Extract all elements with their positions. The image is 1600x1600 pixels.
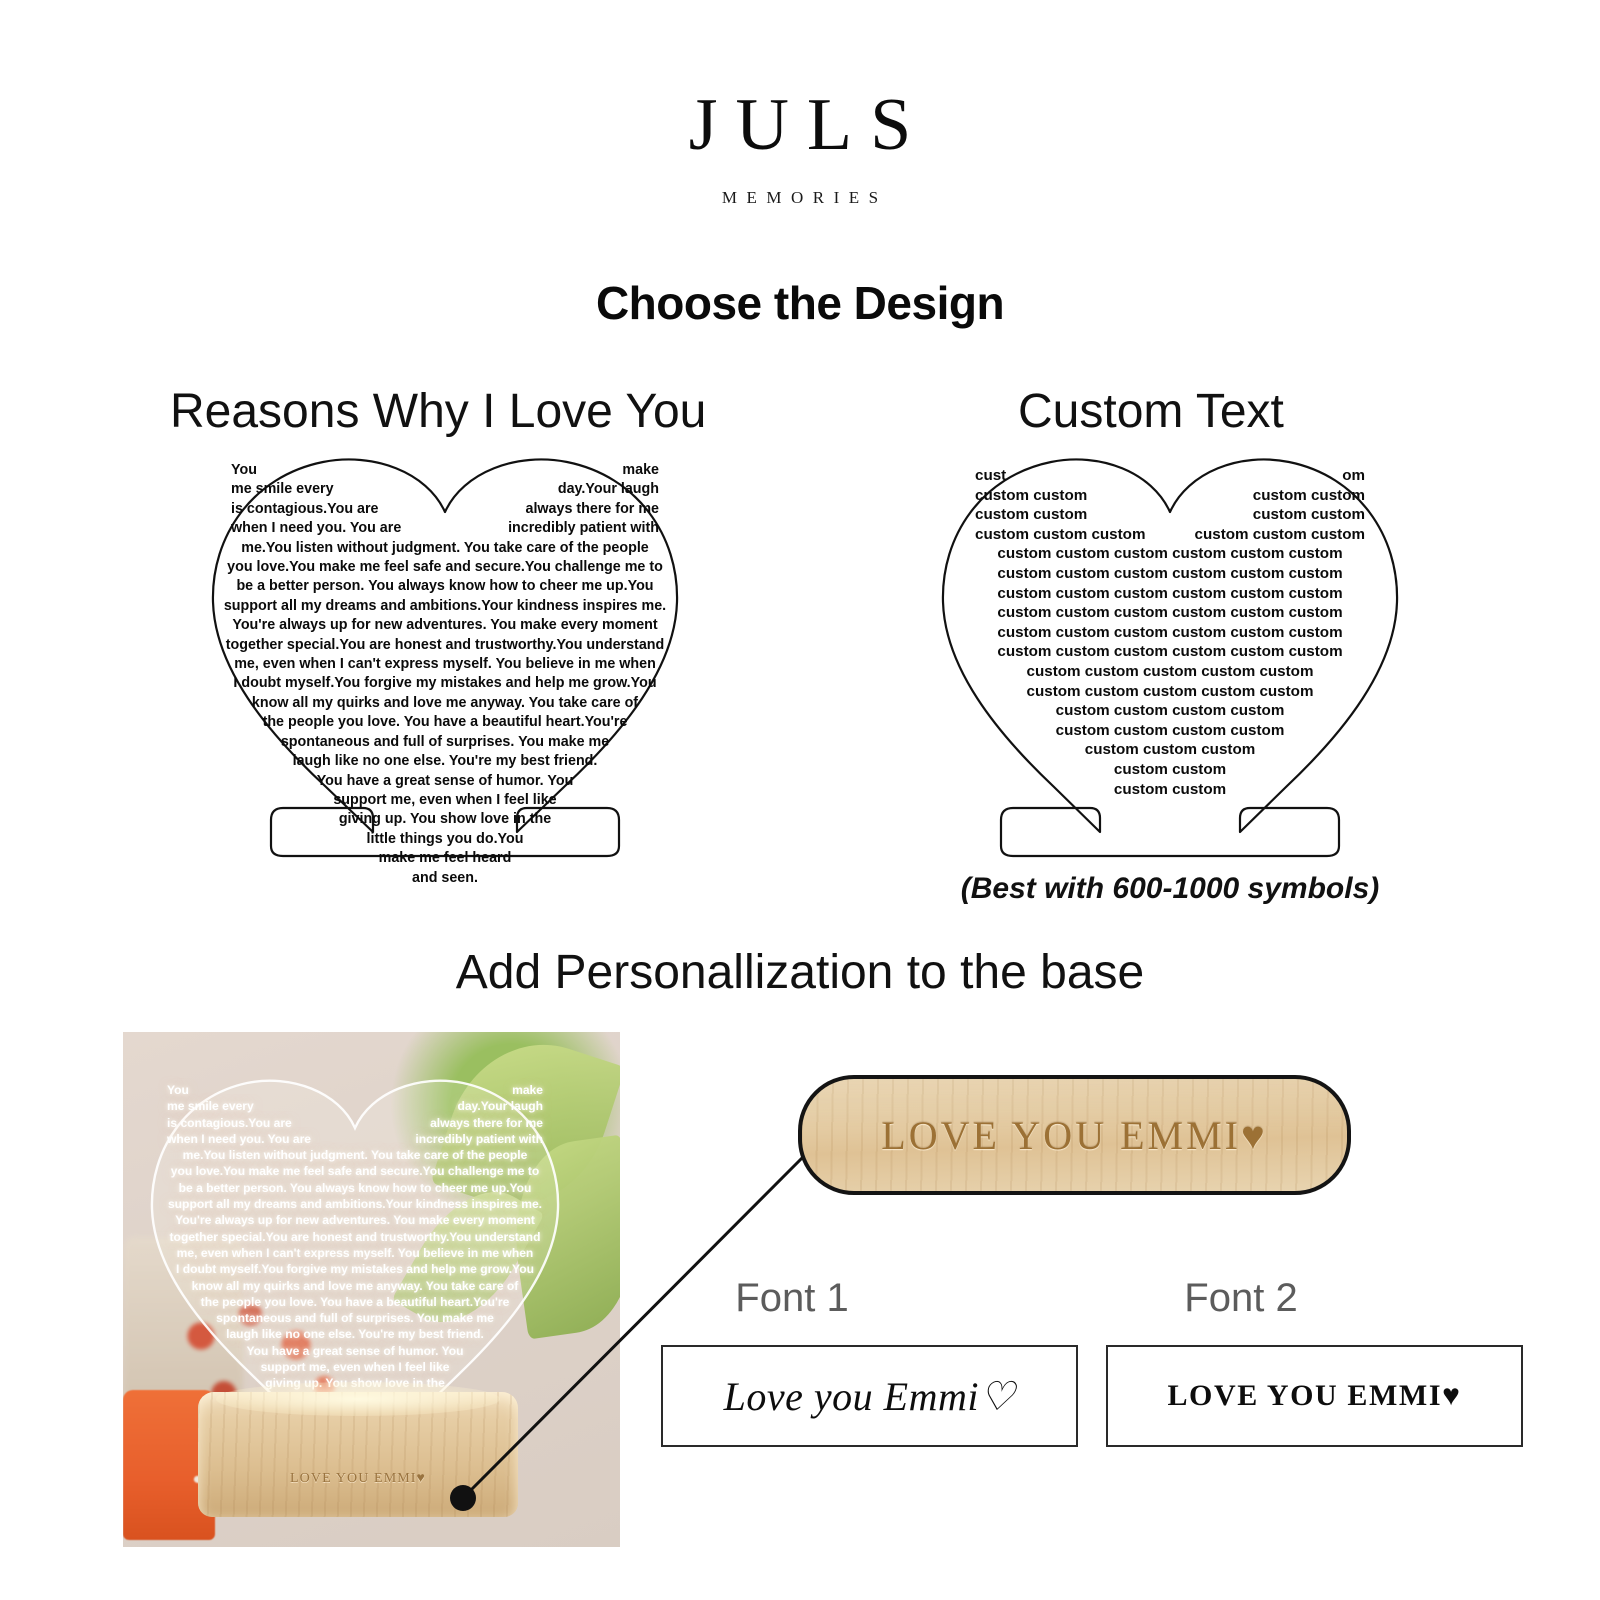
design-option-reasons-heart[interactable]: You make me smile every day.Your laugh i… [205, 450, 685, 860]
heart-lobe-row: me smile every day.Your laugh [205, 480, 685, 499]
heart-line: custom custom [935, 760, 1405, 780]
heart-line: giving up. You show love in the [205, 810, 685, 829]
lobe-left-word: You [167, 1082, 189, 1098]
heart-line: me.You listen without judgment. You take… [145, 1147, 565, 1163]
heart-lobe-row: when I need you. You are incredibly pati… [205, 519, 685, 538]
heart-line: custom custom custom custom custom custo… [935, 584, 1405, 604]
lobe-left-line: is contagious.You are [167, 1115, 292, 1131]
lobe-right-line: day.Your laugh [457, 1098, 543, 1114]
option-title-custom: Custom Text [1018, 384, 1284, 439]
heart-line: me, even when I can't express myself. Yo… [145, 1245, 565, 1261]
heart-lobe-row: custom custom custom custom [935, 505, 1405, 525]
heart-line: custom custom custom custom [935, 701, 1405, 721]
heart-line: know all my quirks and love me anyway. Y… [145, 1278, 565, 1294]
lobe-right-line: custom custom [1253, 486, 1365, 506]
heart-line: You have a great sense of humor. You [205, 772, 685, 791]
lobe-right-line: custom custom [1253, 505, 1365, 525]
heart-line: you love.You make me feel safe and secur… [205, 558, 685, 577]
heart-line: custom custom custom custom custom custo… [935, 642, 1405, 662]
led-glow [216, 1382, 500, 1416]
heart-line: You're always up for new adventures. You… [145, 1212, 565, 1228]
heart-line: I doubt myself.You forgive my mistakes a… [145, 1261, 565, 1277]
heart-line: You're always up for new adventures. You… [205, 616, 685, 635]
heart-line: custom custom custom custom custom custo… [935, 603, 1405, 623]
lobe-right-word: om [1342, 466, 1365, 486]
symbols-hint-note: (Best with 600-1000 symbols) [900, 872, 1440, 906]
heart-lobe-row: when I need you. You are incredibly pati… [145, 1131, 565, 1147]
lobe-left-line: custom custom custom [975, 525, 1145, 545]
heart-line: the people you love. You have a beautifu… [205, 713, 685, 732]
heart-line: and seen. [205, 869, 685, 888]
heart-line: laugh like no one else. You're my best f… [205, 752, 685, 771]
heart-line: make me feel heard [205, 849, 685, 868]
heart-line: support me, even when I feel like [145, 1359, 565, 1375]
option-title-reasons: Reasons Why I Love You [170, 384, 706, 439]
lobe-right-word: make [622, 461, 659, 480]
heart-lobe-top-row: You make [205, 461, 685, 480]
brand-name: JULS [0, 88, 1600, 162]
lobe-left-line: me smile every [167, 1098, 254, 1114]
heart-line: you love.You make me feel safe and secur… [145, 1163, 565, 1179]
lobe-left-line: custom custom [975, 505, 1087, 525]
choose-design-heading: Choose the Design [0, 276, 1600, 330]
heart-line: custom custom custom custom custom [935, 682, 1405, 702]
lobe-right-line: incredibly patient with [415, 1131, 543, 1147]
heart-line: custom custom custom custom custom custo… [935, 564, 1405, 584]
heart-lobe-top-row: cust om [935, 466, 1405, 486]
lobe-right-line: incredibly patient with [508, 519, 659, 538]
heart-line: custom custom custom custom custom custo… [935, 623, 1405, 643]
heart-line: together special.You are honest and trus… [205, 636, 685, 655]
heart-line: be a better person. You always know how … [205, 577, 685, 596]
heart-line: laugh like no one else. You're my best f… [145, 1326, 565, 1342]
product-photo: You make me smile every day.Your laugh i… [123, 1032, 620, 1547]
acrylic-heart-panel: You make me smile every day.Your laugh i… [145, 1072, 565, 1432]
font-2-label: Font 2 [1091, 1276, 1391, 1321]
heart-lobe-row: is contagious.You are always there for m… [145, 1115, 565, 1131]
design-option-custom-heart[interactable]: cust om custom custom custom custom cust… [935, 450, 1405, 860]
font-1-sample-text: Love you Emmi♡ [724, 1373, 1016, 1420]
lobe-right-line: always there for me [430, 1115, 543, 1131]
acrylic-engraved-text: You make me smile every day.Your laugh i… [145, 1072, 565, 1424]
lobe-right-line: custom custom custom [1195, 525, 1365, 545]
plaque-engraving: LOVE YOU EMMI♥ [802, 1079, 1347, 1191]
heart-line: spontaneous and full of surprises. You m… [145, 1310, 565, 1326]
lobe-left-line: me smile every [231, 480, 334, 499]
font-2-option[interactable]: LOVE YOU EMMI♥ [1106, 1345, 1523, 1447]
custom-heart-text: cust om custom custom custom custom cust… [935, 450, 1405, 799]
heart-line: I doubt myself.You forgive my mistakes a… [205, 674, 685, 693]
lobe-left-word: You [231, 461, 257, 480]
heart-line: custom custom custom custom [935, 721, 1405, 741]
reasons-heart-text: You make me smile every day.Your laugh i… [205, 450, 685, 888]
heart-lobe-row: me smile every day.Your laugh [145, 1098, 565, 1114]
lobe-left-line: when I need you. You are [167, 1131, 311, 1147]
heart-line: custom custom custom custom custom [935, 662, 1405, 682]
product-listing-page: JULS MEMORIES Choose the Design Reasons … [0, 0, 1600, 1600]
heart-line: spontaneous and full of surprises. You m… [205, 733, 685, 752]
heart-lobe-row: custom custom custom custom custom custo… [935, 525, 1405, 545]
lobe-right-word: make [512, 1082, 543, 1098]
lobe-right-line: always there for me [526, 500, 660, 519]
heart-line: know all my quirks and love me anyway. Y… [205, 694, 685, 713]
wood-plaque-preview: LOVE YOU EMMI♥ [798, 1075, 1351, 1195]
heart-line: me.You listen without judgment. You take… [205, 539, 685, 558]
lobe-left-line: when I need you. You are [231, 519, 401, 538]
personalization-heading: Add Personallization to the base [0, 945, 1600, 1000]
photo-wood-base: LOVE YOU EMMI♥ [198, 1392, 518, 1517]
font-2-sample-text: LOVE YOU EMMI♥ [1167, 1379, 1461, 1413]
brand-logo: JULS MEMORIES [0, 88, 1600, 208]
heart-line: support me, even when I feel like [205, 791, 685, 810]
brand-tagline: MEMORIES [0, 188, 1600, 208]
font-1-label: Font 1 [642, 1276, 942, 1321]
lobe-right-line: day.Your laugh [558, 480, 659, 499]
heart-line: custom custom custom [935, 740, 1405, 760]
heart-line: the people you love. You have a beautifu… [145, 1294, 565, 1310]
heart-line: custom custom custom custom custom custo… [935, 544, 1405, 564]
heart-line: custom custom [935, 780, 1405, 800]
heart-line: me, even when I can't express myself. Yo… [205, 655, 685, 674]
heart-line: support all my dreams and ambitions.Your… [205, 597, 685, 616]
heart-line: little things you do.You [205, 830, 685, 849]
lobe-left-line: custom custom [975, 486, 1087, 506]
heart-line: You have a great sense of humor. You [145, 1343, 565, 1359]
heart-line: support all my dreams and ambitions.Your… [145, 1196, 565, 1212]
lobe-left-word: cust [975, 466, 1006, 486]
photo-base-engraving: LOVE YOU EMMI♥ [198, 1471, 518, 1487]
heart-line: be a better person. You always know how … [145, 1180, 565, 1196]
heart-lobe-top-row: You make [145, 1082, 565, 1098]
font-1-option[interactable]: Love you Emmi♡ [661, 1345, 1078, 1447]
heart-lobe-row: is contagious.You are always there for m… [205, 500, 685, 519]
heart-line: together special.You are honest and trus… [145, 1229, 565, 1245]
heart-lobe-row: custom custom custom custom [935, 486, 1405, 506]
lobe-left-line: is contagious.You are [231, 500, 379, 519]
